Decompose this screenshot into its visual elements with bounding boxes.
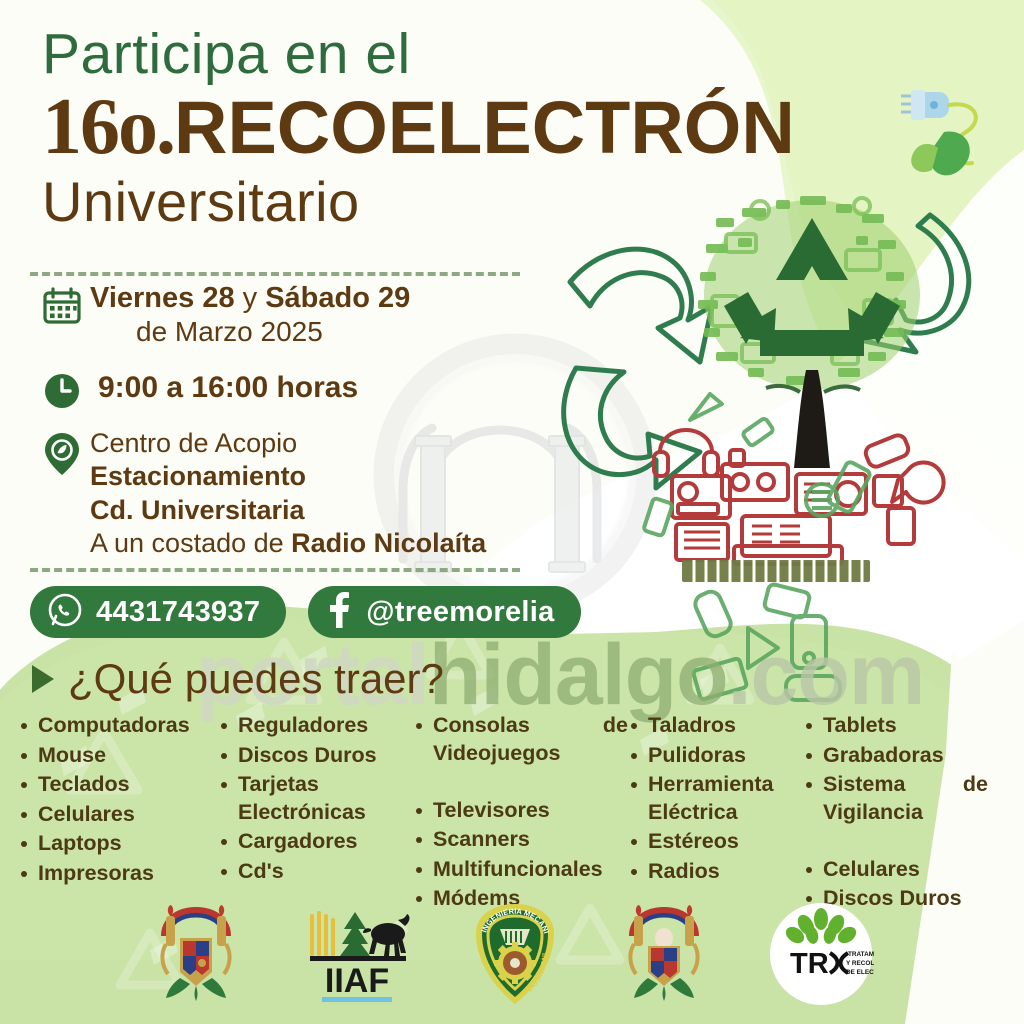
accepted-items-columns: Computadoras Mouse Teclados Celulares La… (18, 712, 1018, 915)
detail-row-time: 9:00 a 16:00 horas (34, 367, 554, 411)
list-item: Pulidoras (628, 742, 803, 770)
list-item: Consolas de Videojuegos (413, 712, 628, 795)
event-date-line1: Viernes 28 y Sábado 29 (90, 282, 554, 315)
list-item: Scanners (413, 826, 628, 854)
list-item: Radios (628, 858, 803, 886)
whatsapp-icon (48, 593, 82, 632)
calendar-icon (34, 282, 90, 326)
whatsapp-number: 4431743937 (96, 596, 260, 629)
items-column-3: Consolas de Videojuegos Televisores Scan… (413, 712, 628, 915)
detail-row-date: Viernes 28 y Sábado 29 de Marzo 2025 (34, 282, 554, 349)
iiaf-logo: IIAF (300, 904, 412, 1009)
umsnh-crest-logo (150, 904, 242, 1009)
items-column-1: Computadoras Mouse Teclados Celulares La… (18, 712, 218, 889)
list-item: Taladros (628, 712, 803, 740)
event-details: Viernes 28 y Sábado 29 de Marzo 2025 9:0… (34, 282, 554, 567)
facebook-icon (326, 592, 352, 633)
list-item: Discos Duros (218, 742, 413, 770)
list-item: Laptops (18, 830, 218, 858)
location-prefix: A un costado de (90, 528, 291, 558)
contact-pills: 4431743937 @treemorelia (30, 586, 581, 638)
list-item: Impresoras (18, 860, 218, 888)
date-day-saturday: Sábado 29 (265, 282, 410, 314)
list-item: Tablets (803, 712, 988, 740)
title-edition-number: 16o. (42, 83, 174, 171)
items-column-2: Reguladores Discos Duros Tarjetas Electr… (218, 712, 413, 887)
list-item: Cargadores (218, 828, 413, 856)
list-item: Teclados (18, 771, 218, 799)
list-item: Televisores (413, 797, 628, 825)
list-item: Tarjetas Electrónicas (218, 771, 413, 826)
sponsor-logos: IIAF (0, 896, 1024, 1016)
facebook-handle: @treemorelia (366, 596, 554, 629)
location-landmark: Radio Nicolaíta (291, 528, 486, 558)
location-pin-icon (34, 427, 90, 477)
svg-text:TRATAMIENTO: TRATAMIENTO (848, 951, 874, 958)
list-item: Celulares (18, 801, 218, 829)
list-item: Celulares (803, 856, 988, 884)
headline-block: Participa en el 16o.RECOELECTRÓN Univers… (42, 26, 972, 231)
svg-text:IIAF: IIAF (325, 962, 389, 1000)
svg-text:DE ELECTRÓNICOS: DE ELECTRÓNICOS (846, 967, 874, 976)
items-column-4: Taladros Pulidoras Herramienta Eléctrica… (628, 712, 803, 887)
date-conjunction: y (235, 282, 266, 314)
divider-bottom (30, 568, 520, 572)
location-line-2: Estacionamiento (90, 460, 554, 493)
whatsapp-contact-button[interactable]: 4431743937 (30, 586, 286, 638)
poster-canvas: Participa en el 16o.RECOELECTRÓN Univers… (0, 0, 1024, 1024)
list-item: Estéreos (628, 828, 803, 856)
detail-row-location: Centro de Acopio Estacionamiento Cd. Uni… (34, 427, 554, 561)
tre-logo: TR TRATAMIENTO Y RECOLECCIÓN DE ELECTRÓN… (768, 901, 874, 1012)
list-item: Multifuncionales (413, 856, 628, 884)
list-item: Grabadoras (803, 742, 988, 770)
event-time: 9:00 a 16:00 horas (90, 367, 554, 405)
list-item: Sistema de Vigilancia (803, 771, 988, 854)
title-main-word: RECOELECTRÓN (174, 86, 795, 169)
facebook-contact-button[interactable]: @treemorelia (308, 586, 580, 638)
accepted-items-heading: ¿Qué puedes traer? (32, 655, 444, 703)
list-item: Mouse (18, 742, 218, 770)
date-day-friday: Viernes 28 (90, 282, 235, 314)
list-item: Cd's (218, 858, 413, 886)
svg-text:TR: TR (790, 948, 829, 980)
page-title: 16o.RECOELECTRÓN (42, 85, 972, 169)
list-item: Herramienta Eléctrica (628, 771, 803, 826)
event-date-line2: de Marzo 2025 (90, 315, 554, 349)
triangle-bullet-icon (32, 665, 54, 693)
umsnh-crest-logo-2 (618, 904, 710, 1009)
list-item: Reguladores (218, 712, 413, 740)
location-line-1: Centro de Acopio (90, 427, 554, 460)
svg-text:Y RECOLECCIÓN: Y RECOLECCIÓN (846, 958, 874, 967)
location-line-4: A un costado de Radio Nicolaíta (90, 527, 554, 560)
location-line-3: Cd. Universitaria (90, 494, 554, 527)
items-column-5: Tablets Grabadoras Sistema de Vigilancia… (803, 712, 988, 915)
eyebrow-text: Participa en el (42, 26, 972, 83)
accepted-items-heading-text: ¿Qué puedes traer? (68, 655, 444, 703)
divider-top (30, 272, 520, 276)
clock-icon (34, 367, 90, 411)
title-subtitle: Universitario (42, 173, 972, 232)
list-item: Computadoras (18, 712, 218, 740)
ingenieria-mecanica-logo: INGENIERIA MECANICA INGENIERIA (470, 901, 560, 1012)
